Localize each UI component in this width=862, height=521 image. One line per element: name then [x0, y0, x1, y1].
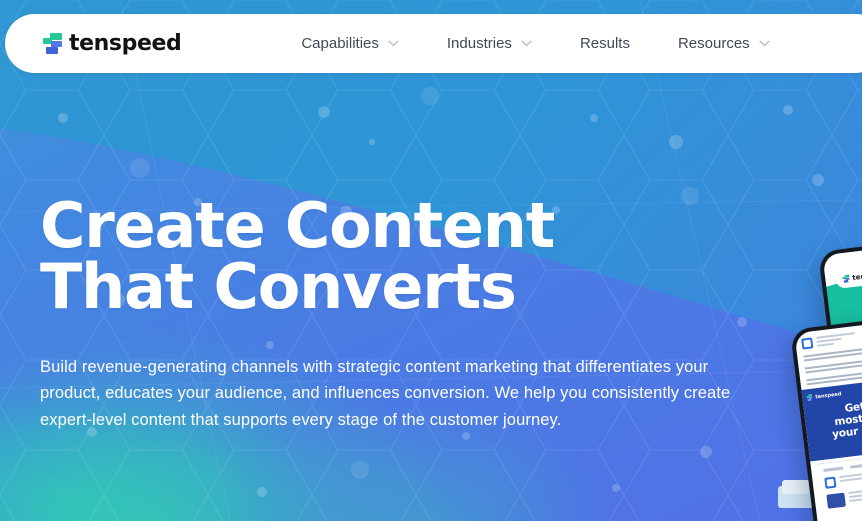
post-avatar — [824, 477, 836, 489]
post-header — [801, 325, 862, 351]
tenspeed-squares-logo-icon — [43, 33, 62, 54]
hero-headline-line-2: That Converts — [40, 257, 760, 318]
brand-name: tenspeed — [69, 31, 181, 56]
mockup-base-highlight — [782, 480, 810, 494]
nav-item-capabilities[interactable]: Capabilities — [301, 27, 399, 60]
post-action-comment[interactable] — [850, 464, 862, 469]
brand-logo[interactable]: tenspeed — [43, 31, 181, 56]
hero-subcopy: Build revenue-generating channels with s… — [40, 354, 740, 435]
phone-back-brand-name: tenspeed — [852, 269, 862, 281]
nav-links: Capabilities Industries Results Resource… — [301, 27, 769, 60]
promo-brand-name: tenspeed — [815, 391, 842, 400]
tenspeed-squares-logo-icon — [806, 394, 813, 402]
nav-label-industries: Industries — [447, 35, 512, 52]
chevron-down-icon — [521, 40, 532, 47]
nav-item-industries[interactable]: Industries — [447, 27, 532, 60]
chevron-down-icon — [759, 40, 770, 47]
nav-item-resources[interactable]: Resources — [678, 27, 770, 60]
chevron-down-icon — [388, 40, 399, 47]
post-avatar — [801, 337, 813, 349]
nav-label-results: Results — [580, 35, 630, 52]
nav-label-capabilities: Capabilities — [301, 35, 379, 52]
post-author-meta — [816, 325, 862, 349]
link-preview-thumbnail — [826, 493, 846, 509]
phone-back-brand-pill: tenspeed — [834, 257, 862, 289]
hero-headline: Create Content That Converts — [40, 196, 760, 318]
nav-label-resources: Resources — [678, 35, 750, 52]
promo-card: tenspeed Get the most out of your conten… — [801, 375, 862, 462]
hero-headline-line-1: Create Content — [40, 196, 760, 257]
nav-item-results[interactable]: Results — [580, 27, 630, 60]
post-action-like[interactable] — [823, 467, 843, 472]
promo-headline: Get the most out of your content — [807, 392, 862, 447]
hero-copy: Create Content That Converts Build reven… — [40, 196, 760, 434]
tenspeed-squares-logo-icon — [842, 274, 850, 283]
main-navbar: tenspeed Capabilities Industries Results… — [5, 14, 862, 73]
